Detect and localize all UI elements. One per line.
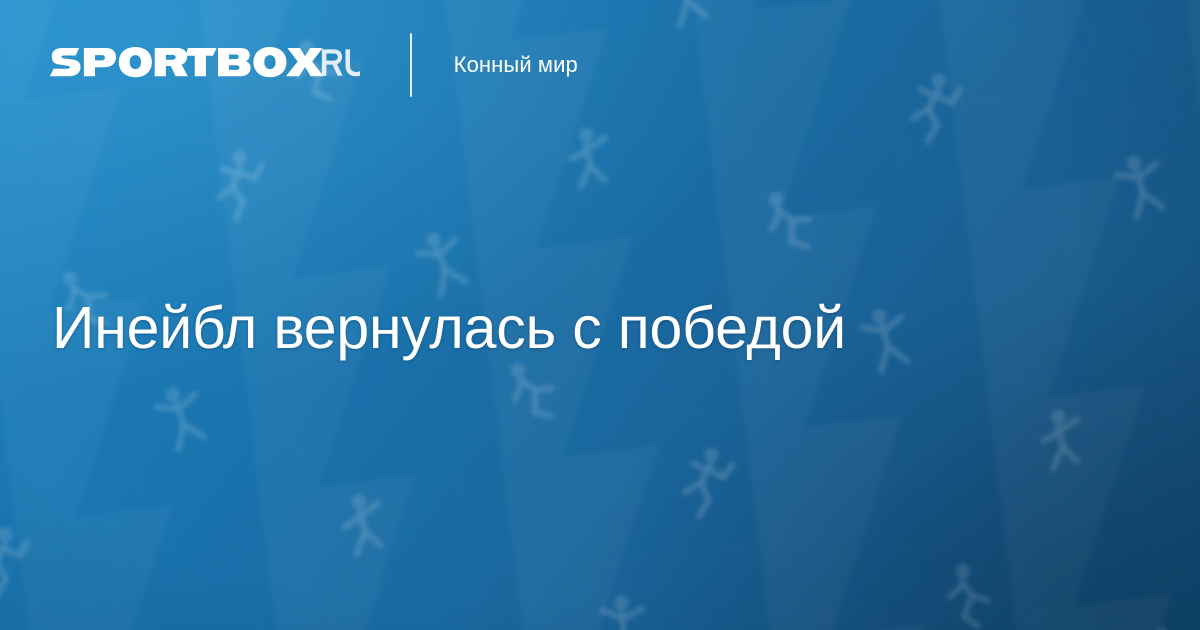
sportbox-logo[interactable] — [48, 47, 360, 83]
sportbox-logo-icon — [48, 47, 360, 81]
header: Конный мир — [48, 30, 578, 100]
header-divider — [410, 33, 412, 97]
section-label[interactable]: Конный мир — [454, 52, 578, 78]
page-title: Инейбл вернулась с победой — [52, 295, 1132, 361]
share-card: Конный мир Инейбл вернулась с победой — [0, 0, 1200, 630]
